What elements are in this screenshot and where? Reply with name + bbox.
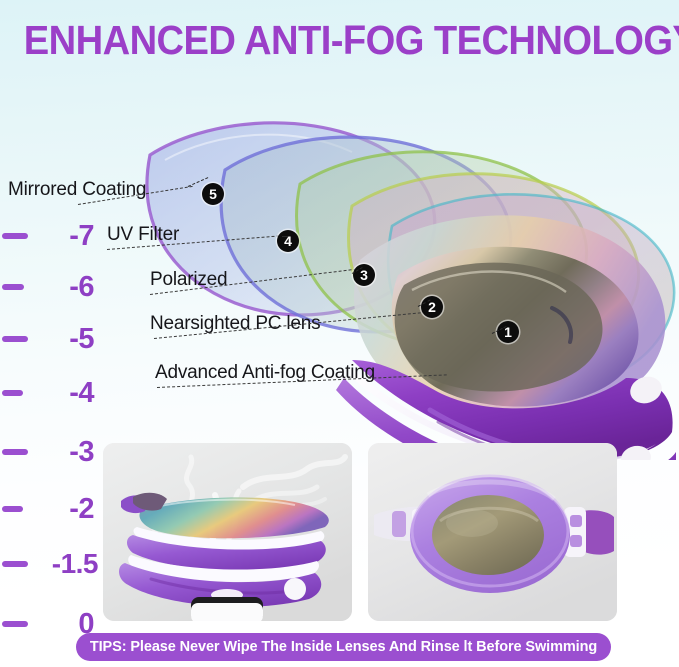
diopter-tick: -5 (0, 326, 96, 352)
diopter-tick: -3 (0, 439, 96, 465)
diopter-tick-dash (2, 390, 23, 396)
diopter-tick: -6 (0, 274, 96, 300)
diopter-tick: -4 (0, 380, 96, 406)
diopter-tick-label: -7 (30, 220, 94, 253)
diopter-tick-dash (2, 506, 23, 512)
exploded-lens-diagram (0, 60, 679, 460)
callout-mirrored-coating: Mirrored Coating (8, 179, 146, 201)
anti-fog-steam-demo-photo (103, 443, 352, 621)
tips-banner: TIPS: Please Never Wipe The Inside Lense… (76, 633, 611, 661)
callout-badge-4: 4 (277, 230, 299, 252)
diopter-tick-label: -5 (30, 323, 94, 356)
goggle-eyecup-closeup-photo (368, 443, 617, 621)
callout-uv-filter: UV Filter (107, 224, 179, 246)
callout-advanced-anti-fog-coating: Advanced Anti-fog Coating (155, 362, 375, 384)
diopter-tick: -2 (0, 496, 96, 522)
diopter-tick-dash (2, 621, 28, 627)
callout-label: Advanced Anti-fog Coating (155, 362, 375, 384)
callout-badge-5: 5 (202, 183, 224, 205)
diopter-tick-dash (2, 449, 28, 455)
callout-badge-3: 3 (353, 264, 375, 286)
diopter-tick: -7 (0, 223, 96, 249)
callout-nearsighted-pc-lens: Nearsighted PC lens (150, 313, 320, 335)
callout-badge-2: 2 (421, 296, 443, 318)
diopter-tick-dash (2, 284, 24, 290)
callout-label: UV Filter (107, 224, 179, 246)
diopter-tick-label: -3 (30, 436, 94, 469)
diopter-tick-dash (2, 233, 28, 239)
diopter-tick-label: -1.5 (22, 548, 98, 580)
callout-label: Polarized (150, 269, 227, 291)
diopter-tick: 0 (0, 611, 96, 637)
callout-label: Mirrored Coating (8, 179, 146, 201)
diopter-tick-label: -4 (30, 377, 94, 410)
diopter-tick-dash (2, 336, 28, 342)
page-title: ENHANCED ANTI-FOG TECHNOLOGY (24, 17, 655, 64)
callout-polarized: Polarized (150, 269, 227, 291)
callout-badge-1: 1 (497, 321, 519, 343)
diopter-tick-label: -6 (30, 271, 94, 304)
diopter-tick: -1.5 (0, 551, 96, 577)
infographic-page: ENHANCED ANTI-FOG TECHNOLOGY (0, 0, 679, 667)
leader-line-4 (282, 236, 288, 237)
diopter-tick-label: -2 (30, 493, 94, 526)
